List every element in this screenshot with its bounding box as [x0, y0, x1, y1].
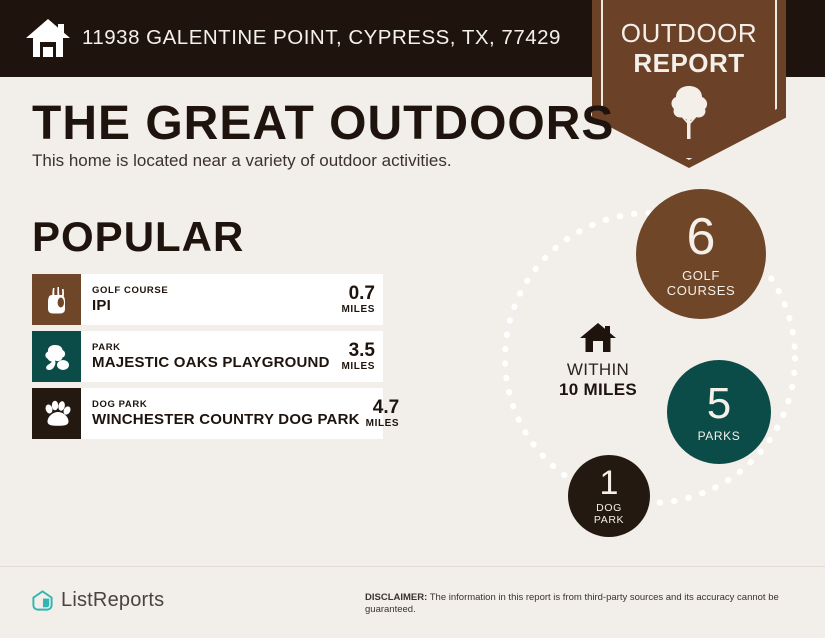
listreports-house-tag-icon — [31, 589, 54, 612]
popular-heading: POPULAR — [32, 213, 244, 261]
property-address: 11938 GALENTINE POINT, CYPRESS, TX, 7742… — [82, 26, 561, 50]
stat-label: PARKS — [698, 429, 741, 443]
badge-title-line2: REPORT — [592, 48, 786, 78]
disclaimer-text: The information in this report is from t… — [365, 592, 779, 615]
badge-title-line1: OUTDOOR — [592, 18, 786, 48]
poi-distance-value: 4.7 — [366, 398, 400, 418]
house-icon — [24, 14, 72, 62]
outdoor-report-page: 11938 GALENTINE POINT, CYPRESS, TX, 7742… — [0, 0, 825, 638]
listreports-logo[interactable]: ListReports — [31, 589, 164, 612]
stat-circle-dog-park[interactable]: 1 DOG PARK — [568, 455, 650, 537]
stat-label-line2: COURSES — [667, 283, 736, 298]
poi-distance: 4.7 MILES — [360, 398, 400, 430]
tree-icon — [668, 84, 710, 140]
stat-count: 5 — [707, 382, 731, 426]
poi-distance: 3.5 MILES — [335, 341, 375, 373]
paw-icon — [42, 400, 72, 428]
poi-distance-unit: MILES — [366, 418, 400, 430]
poi-category: GOLF COURSE — [92, 285, 168, 297]
poi-distance-unit: MILES — [341, 361, 375, 373]
list-item[interactable]: DOG PARK WINCHESTER COUNTRY DOG PARK 4.7… — [32, 388, 383, 439]
stat-count: 1 — [600, 466, 619, 500]
poi-distance: 0.7 MILES — [335, 284, 375, 316]
poi-name: MAJESTIC OAKS PLAYGROUND — [92, 354, 330, 371]
list-item[interactable]: GOLF COURSE IPI 0.7 MILES — [32, 274, 383, 325]
disclaimer-label: DISCLAIMER: — [365, 592, 427, 603]
stat-circle-golf-courses[interactable]: 6 GOLF COURSES — [636, 189, 766, 319]
poi-distance-unit: MILES — [341, 304, 375, 316]
poi-text: DOG PARK WINCHESTER COUNTRY DOG PARK — [92, 399, 360, 428]
footer-divider — [0, 566, 825, 567]
stat-label-line1: GOLF — [667, 268, 736, 283]
house-icon — [579, 321, 617, 354]
stat-circle-parks[interactable]: 5 PARKS — [667, 360, 771, 464]
poi-name: WINCHESTER COUNTRY DOG PARK — [92, 411, 360, 428]
page-subtitle: This home is located near a variety of o… — [32, 151, 452, 171]
poi-distance-value: 0.7 — [341, 284, 375, 304]
tree-icon — [42, 343, 72, 371]
listreports-logo-text: ListReports — [61, 589, 164, 612]
within-label-line2: 10 MILES — [535, 380, 661, 400]
poi-body: GOLF COURSE IPI 0.7 MILES — [81, 274, 383, 325]
poi-icon-box — [32, 274, 81, 325]
poi-text: GOLF COURSE IPI — [92, 285, 168, 314]
poi-body: DOG PARK WINCHESTER COUNTRY DOG PARK 4.7… — [81, 388, 407, 439]
page-title: THE GREAT OUTDOORS — [32, 98, 614, 150]
stat-label-line2: PARK — [594, 514, 624, 526]
stat-count: 6 — [687, 211, 716, 263]
stat-label-line1: PARKS — [698, 429, 741, 443]
within-10-miles-diagram: 6 GOLF COURSES 5 PARKS 1 DOG PARK — [470, 178, 825, 553]
list-item[interactable]: PARK MAJESTIC OAKS PLAYGROUND 3.5 MILES — [32, 331, 383, 382]
within-label-line1: WITHIN — [535, 360, 661, 380]
stat-label: DOG PARK — [594, 502, 624, 526]
poi-icon-box — [32, 331, 81, 382]
poi-text: PARK MAJESTIC OAKS PLAYGROUND — [92, 342, 330, 371]
poi-icon-box — [32, 388, 81, 439]
poi-name: IPI — [92, 297, 168, 314]
popular-places-list: GOLF COURSE IPI 0.7 MILES PARK — [32, 274, 383, 445]
disclaimer: DISCLAIMER: The information in this repo… — [365, 592, 793, 616]
outdoor-report-badge: OUTDOOR REPORT — [592, 0, 786, 168]
stat-label-line1: DOG — [594, 502, 624, 514]
poi-body: PARK MAJESTIC OAKS PLAYGROUND 3.5 MILES — [81, 331, 383, 382]
badge-title: OUTDOOR REPORT — [592, 18, 786, 78]
poi-category: DOG PARK — [92, 399, 360, 411]
stat-label: GOLF COURSES — [667, 268, 736, 298]
poi-distance-value: 3.5 — [341, 341, 375, 361]
golf-bag-icon — [43, 285, 71, 315]
poi-category: PARK — [92, 342, 330, 354]
within-distance-block: WITHIN 10 MILES — [535, 321, 661, 400]
